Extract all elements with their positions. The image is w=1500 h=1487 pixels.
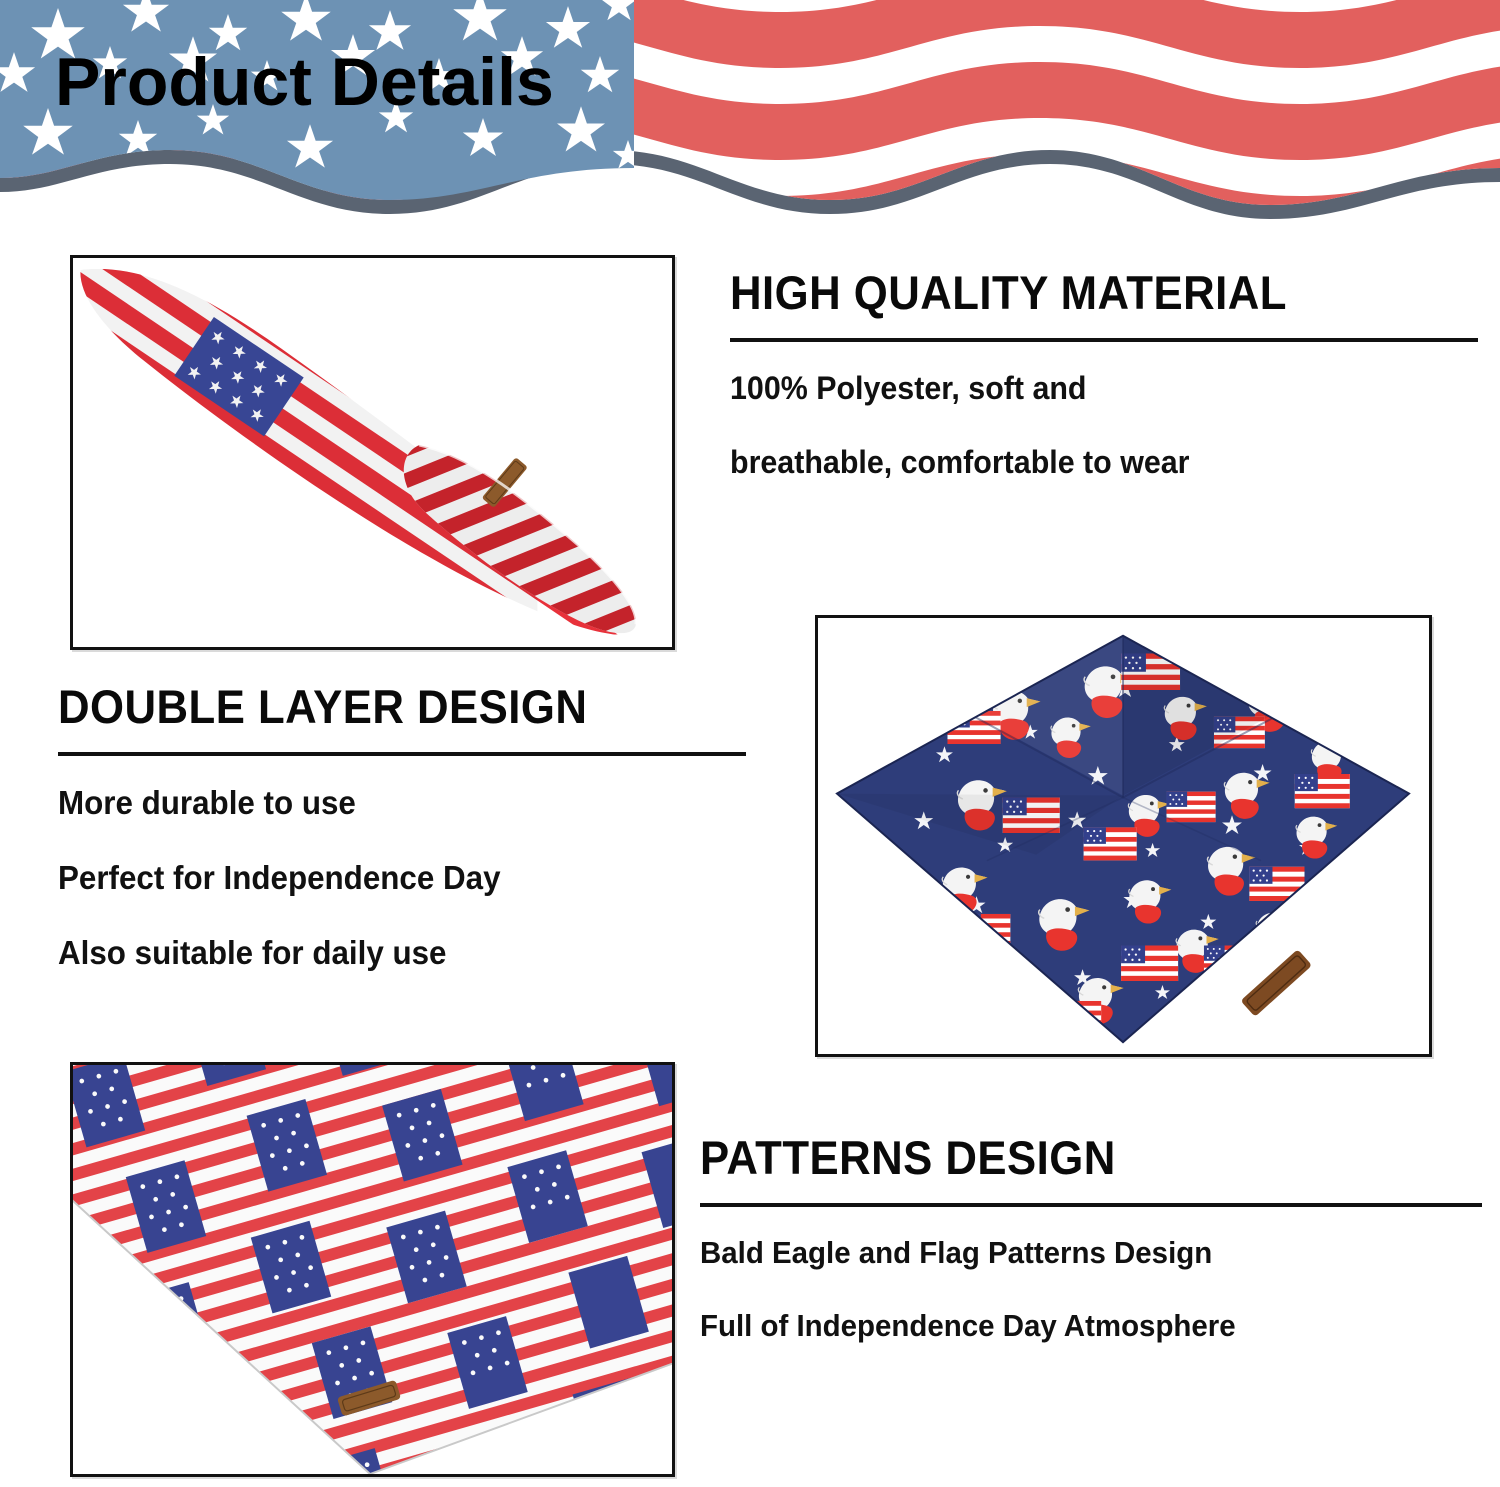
rolled-flag-bandana-graphic [73,258,672,647]
feature-line: breathable, comfortable to wear [730,446,1441,478]
feature-line: Full of Independence Day Atmosphere [700,1310,1443,1341]
feature-lines: More durable to use Perfect for Independ… [58,786,746,969]
feature-divider [730,338,1478,342]
feature-patterns-design: PATTERNS DESIGN Bald Eagle and Flag Patt… [700,1133,1482,1341]
flag-banner: Product Details [0,0,1500,230]
page-title: Product Details [55,48,554,116]
feature-lines: 100% Polyester, soft and breathable, com… [730,372,1478,478]
product-photo-rolled-flag-bandana [70,255,675,650]
product-photo-eagle-bandana [815,615,1432,1057]
feature-heading: DOUBLE LAYER DESIGN [58,682,698,731]
feature-divider [58,752,746,756]
feature-line: Perfect for Independence Day [58,861,712,894]
feature-lines: Bald Eagle and Flag Patterns Design Full… [700,1237,1482,1341]
feature-divider [700,1203,1482,1207]
feature-high-quality-material: HIGH QUALITY MATERIAL 100% Polyester, so… [730,268,1478,478]
eagle-bandana-graphic [818,618,1429,1054]
feature-heading: PATTERNS DESIGN [700,1133,1427,1182]
feature-line: More durable to use [58,786,712,819]
product-photo-flat-flag-bandana [70,1062,675,1477]
feature-heading: HIGH QUALITY MATERIAL [730,268,1426,317]
feature-double-layer-design: DOUBLE LAYER DESIGN More durable to use … [58,682,746,969]
feature-line: Bald Eagle and Flag Patterns Design [700,1237,1443,1268]
feature-line: Also suitable for daily use [58,936,712,969]
feature-line: 100% Polyester, soft and [730,372,1441,404]
flat-flag-bandana-graphic [73,1065,672,1474]
